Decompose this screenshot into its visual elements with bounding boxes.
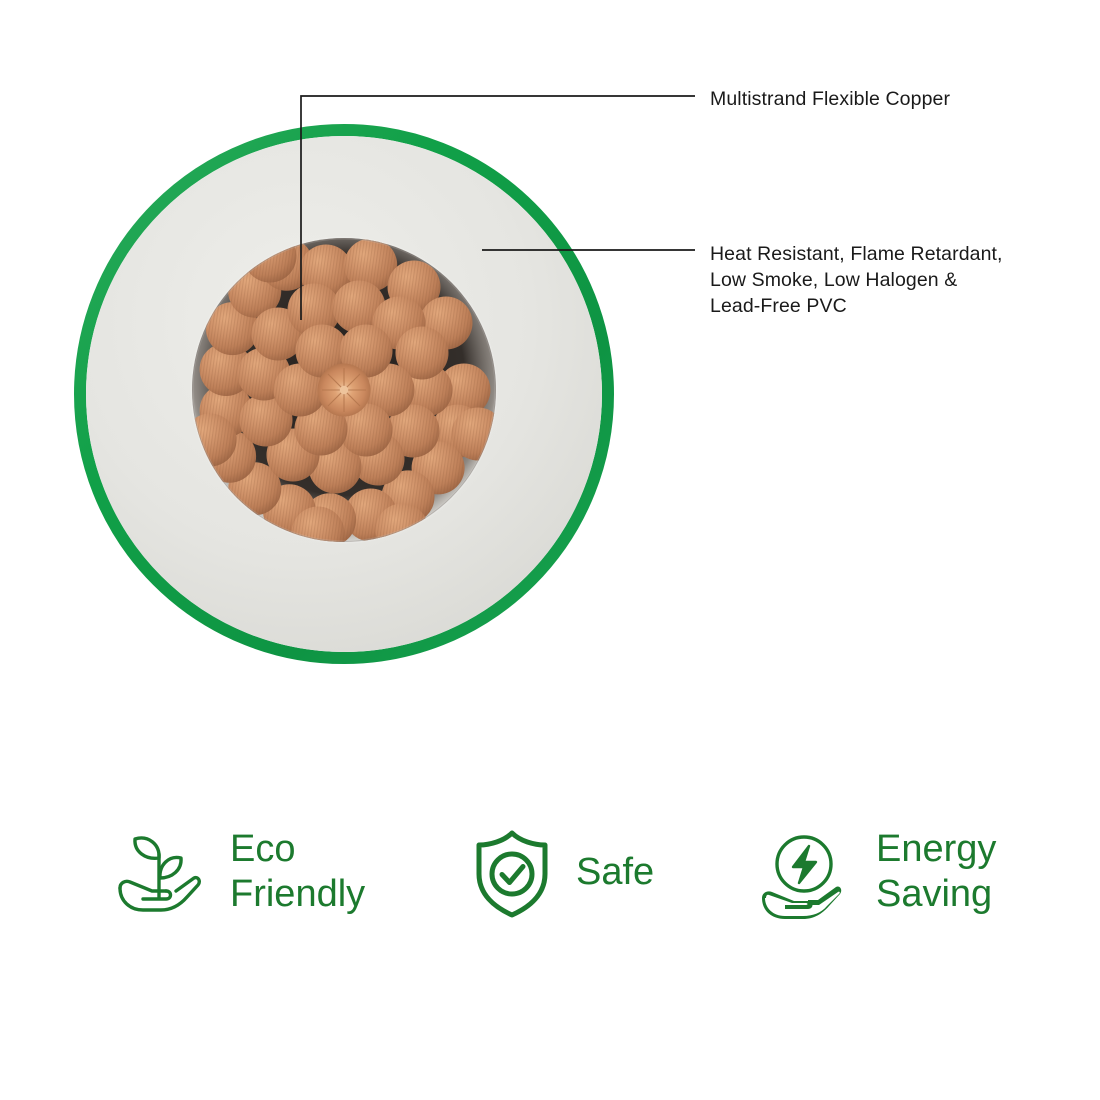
energy-bolt-in-hand-icon: [758, 822, 858, 922]
feature-safe[interactable]: Safe: [466, 812, 654, 932]
diagram-canvas: Multistrand Flexible Copper Heat Resista…: [0, 0, 1100, 1100]
cable-cross-section-graphic: [74, 124, 614, 664]
feature-energy-saving-label: Energy Saving: [876, 827, 996, 917]
feature-row: Eco Friendly Safe Ene: [0, 812, 1100, 942]
feature-energy-saving[interactable]: Energy Saving: [758, 812, 996, 932]
plant-in-hand-icon: [112, 822, 212, 922]
callout-label-multistrand-copper: Multistrand Flexible Copper: [710, 86, 950, 112]
shield-check-icon: [466, 822, 558, 922]
strand-centre: [318, 364, 371, 417]
feature-safe-label: Safe: [576, 850, 654, 895]
feature-eco-friendly-label: Eco Friendly: [230, 827, 365, 917]
cable-cross-section: [74, 124, 614, 664]
callout-label-pvc-properties: Heat Resistant, Flame Retardant, Low Smo…: [710, 241, 1003, 319]
feature-eco-friendly[interactable]: Eco Friendly: [112, 812, 365, 932]
